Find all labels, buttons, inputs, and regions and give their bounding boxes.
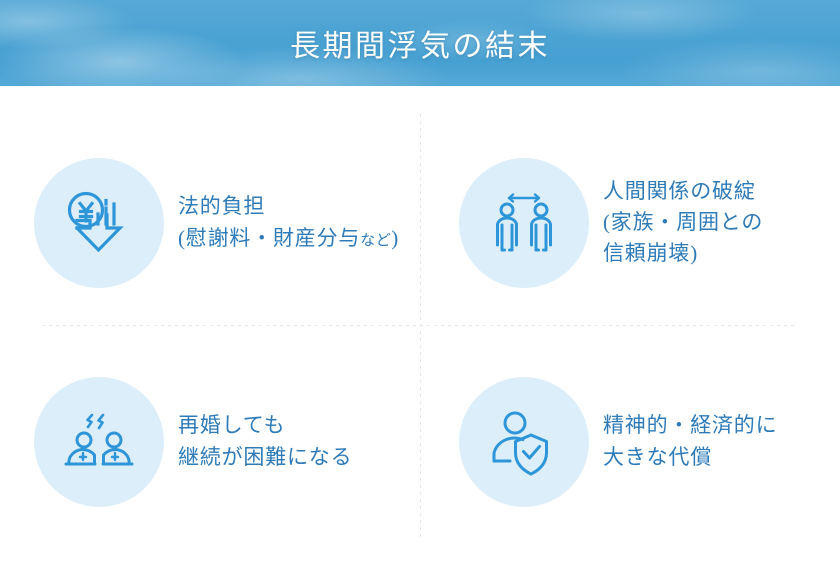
item-label-line: (慰謝料・財産分与など) xyxy=(178,223,399,254)
header-banner: 長期間浮気の結末 xyxy=(0,0,840,86)
person-shield-check-icon xyxy=(459,377,589,507)
item-label-line: 法的負担 xyxy=(178,191,399,222)
item-label-group: 精神的・経済的に 大きな代償 xyxy=(603,410,777,472)
couple-conflict-icon xyxy=(34,377,164,507)
two-people-distance-icon xyxy=(459,158,589,288)
item-label-line: 大きな代償 xyxy=(603,442,777,473)
grid-item-relationship-breakdown: 人間関係の破綻 (家族・周囲との 信頼崩壊) xyxy=(459,120,839,325)
item-label-line: 人間関係の破綻 xyxy=(603,176,763,207)
item-label-line: (家族・周囲との xyxy=(603,207,763,238)
item-label-group: 人間関係の破綻 (家族・周囲との 信頼崩壊) xyxy=(603,176,763,269)
yen-down-arrow-icon xyxy=(34,158,164,288)
page-title: 長期間浮気の結末 xyxy=(0,0,840,86)
item-label-group: 法的負担 (慰謝料・財産分与など) xyxy=(178,191,399,253)
grid-item-remarriage-difficulty: 再婚しても 継続が困難になる xyxy=(34,339,414,544)
item-label-main: (慰謝料・財産分与 xyxy=(178,226,360,250)
item-label-line: 再婚しても xyxy=(178,410,352,441)
item-label-group: 再婚しても 継続が困難になる xyxy=(178,410,352,472)
item-label-tail: ) xyxy=(391,226,399,250)
item-label-line: 信頼崩壊) xyxy=(603,238,763,269)
benefits-grid: 法的負担 (慰謝料・財産分与など) xyxy=(0,86,840,586)
item-label-small: など xyxy=(360,233,391,249)
grid-item-legal-burden: 法的負担 (慰謝料・財産分与など) xyxy=(34,120,414,325)
grid-item-emotional-economic-cost: 精神的・経済的に 大きな代償 xyxy=(459,339,839,544)
item-label-line: 精神的・経済的に xyxy=(603,410,777,441)
item-label-line: 継続が困難になる xyxy=(178,442,352,473)
